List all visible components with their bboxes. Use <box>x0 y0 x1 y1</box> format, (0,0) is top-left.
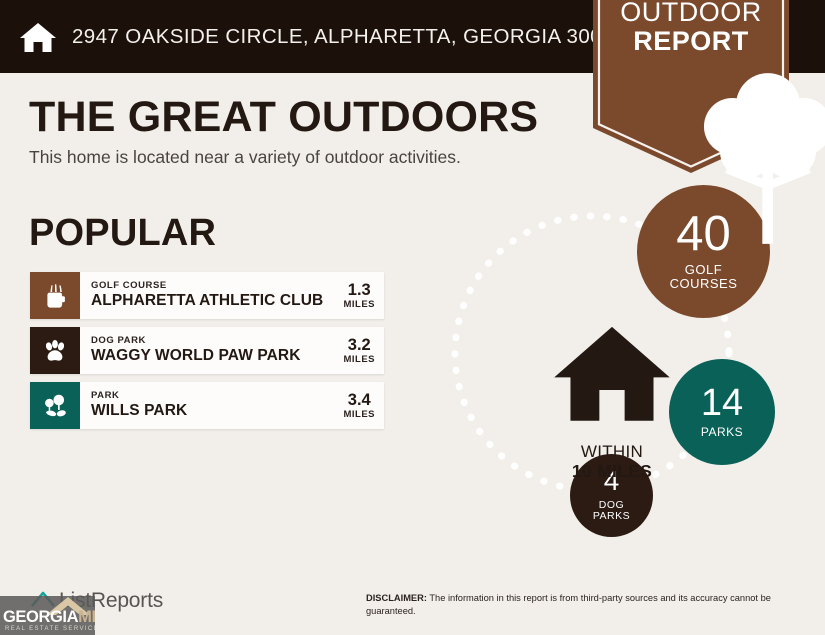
list-item-distance-value: 1.3 <box>343 282 375 299</box>
tree-icon <box>670 66 712 118</box>
popular-poi-list: GOLF COURSE ALPHARETTA ATHLETIC CLUB 1.3… <box>30 272 384 437</box>
list-item-distance-value: 3.2 <box>343 337 375 354</box>
list-item-distance-unit: MILES <box>343 355 375 365</box>
list-item-distance: 3.2 MILES <box>337 337 375 365</box>
page-title: THE GREAT OUTDOORS <box>29 93 538 142</box>
disclaimer: DISCLAIMER: The information in this repo… <box>366 592 796 618</box>
golf-bag-icon <box>30 272 80 319</box>
stat-value: 14 <box>701 385 743 421</box>
list-item-category: PARK <box>91 391 187 401</box>
within-label: WITHIN <box>547 443 677 462</box>
list-item-texts: DOG PARK WAGGY WORLD PAW PARK <box>91 336 301 364</box>
stat-label-line1: PARKS <box>701 426 743 439</box>
stat-label-line2: PARKS <box>593 511 630 523</box>
list-item-body: PARK WILLS PARK 3.4 MILES <box>80 382 384 429</box>
stat-label: GOLF COURSES <box>670 263 738 292</box>
list-item-body: GOLF COURSE ALPHARETTA ATHLETIC CLUB 1.3… <box>80 272 384 319</box>
home-icon <box>547 419 677 436</box>
paw-print-icon <box>30 327 80 374</box>
list-item-distance-unit: MILES <box>343 410 375 420</box>
radius-label: 10 MILES <box>547 461 677 481</box>
mls-word-georgia: GEORGIA <box>3 608 78 626</box>
mls-subtitle: REAL ESTATE SERVICES <box>5 626 95 632</box>
list-item-name: WAGGY WORLD PAW PARK <box>91 348 301 364</box>
stat-bubble-parks[interactable]: 14 PARKS <box>669 359 775 465</box>
list-item-distance: 1.3 MILES <box>337 282 375 310</box>
home-icon <box>16 15 60 59</box>
disclaimer-text: The information in this report is from t… <box>366 593 771 616</box>
stat-label-line2: COURSES <box>670 277 738 291</box>
property-address: 2947 OAKSIDE CIRCLE, ALPHARETTA, GEORGIA… <box>72 25 626 49</box>
disclaimer-label: DISCLAIMER: <box>366 593 427 603</box>
list-item-distance-value: 3.4 <box>343 392 375 409</box>
park-trees-icon <box>30 382 80 429</box>
list-item-texts: GOLF COURSE ALPHARETTA ATHLETIC CLUB <box>91 281 323 309</box>
list-item[interactable]: PARK WILLS PARK 3.4 MILES <box>30 382 384 429</box>
list-item[interactable]: GOLF COURSE ALPHARETTA ATHLETIC CLUB 1.3… <box>30 272 384 319</box>
list-item[interactable]: DOG PARK WAGGY WORLD PAW PARK 3.2 MILES <box>30 327 384 374</box>
chart-center-label: WITHIN 10 MILES <box>547 316 677 481</box>
list-item-distance-unit: MILES <box>343 300 375 310</box>
stat-label-line1: GOLF <box>670 263 738 277</box>
list-item-body: DOG PARK WAGGY WORLD PAW PARK 3.2 MILES <box>80 327 384 374</box>
list-item-category: GOLF COURSE <box>91 281 323 291</box>
list-item-name: WILLS PARK <box>91 403 187 419</box>
stat-label: DOG PARKS <box>593 500 630 523</box>
list-item-category: DOG PARK <box>91 336 301 346</box>
list-item-distance: 3.4 MILES <box>337 392 375 420</box>
list-item-texts: PARK WILLS PARK <box>91 391 187 419</box>
popular-heading: POPULAR <box>29 212 216 255</box>
mls-word-mls: MLS <box>78 608 95 626</box>
georgia-mls-watermark: GEORGIAMLS REAL ESTATE SERVICES <box>0 596 95 635</box>
list-item-name: ALPHARETTA ATHLETIC CLUB <box>91 293 323 309</box>
stat-label: PARKS <box>701 426 743 439</box>
page-subtitle: This home is located near a variety of o… <box>29 147 461 168</box>
outdoor-report-badge: OUTDOOR REPORT <box>593 0 789 173</box>
mls-wordmark: GEORGIAMLS <box>3 608 95 627</box>
